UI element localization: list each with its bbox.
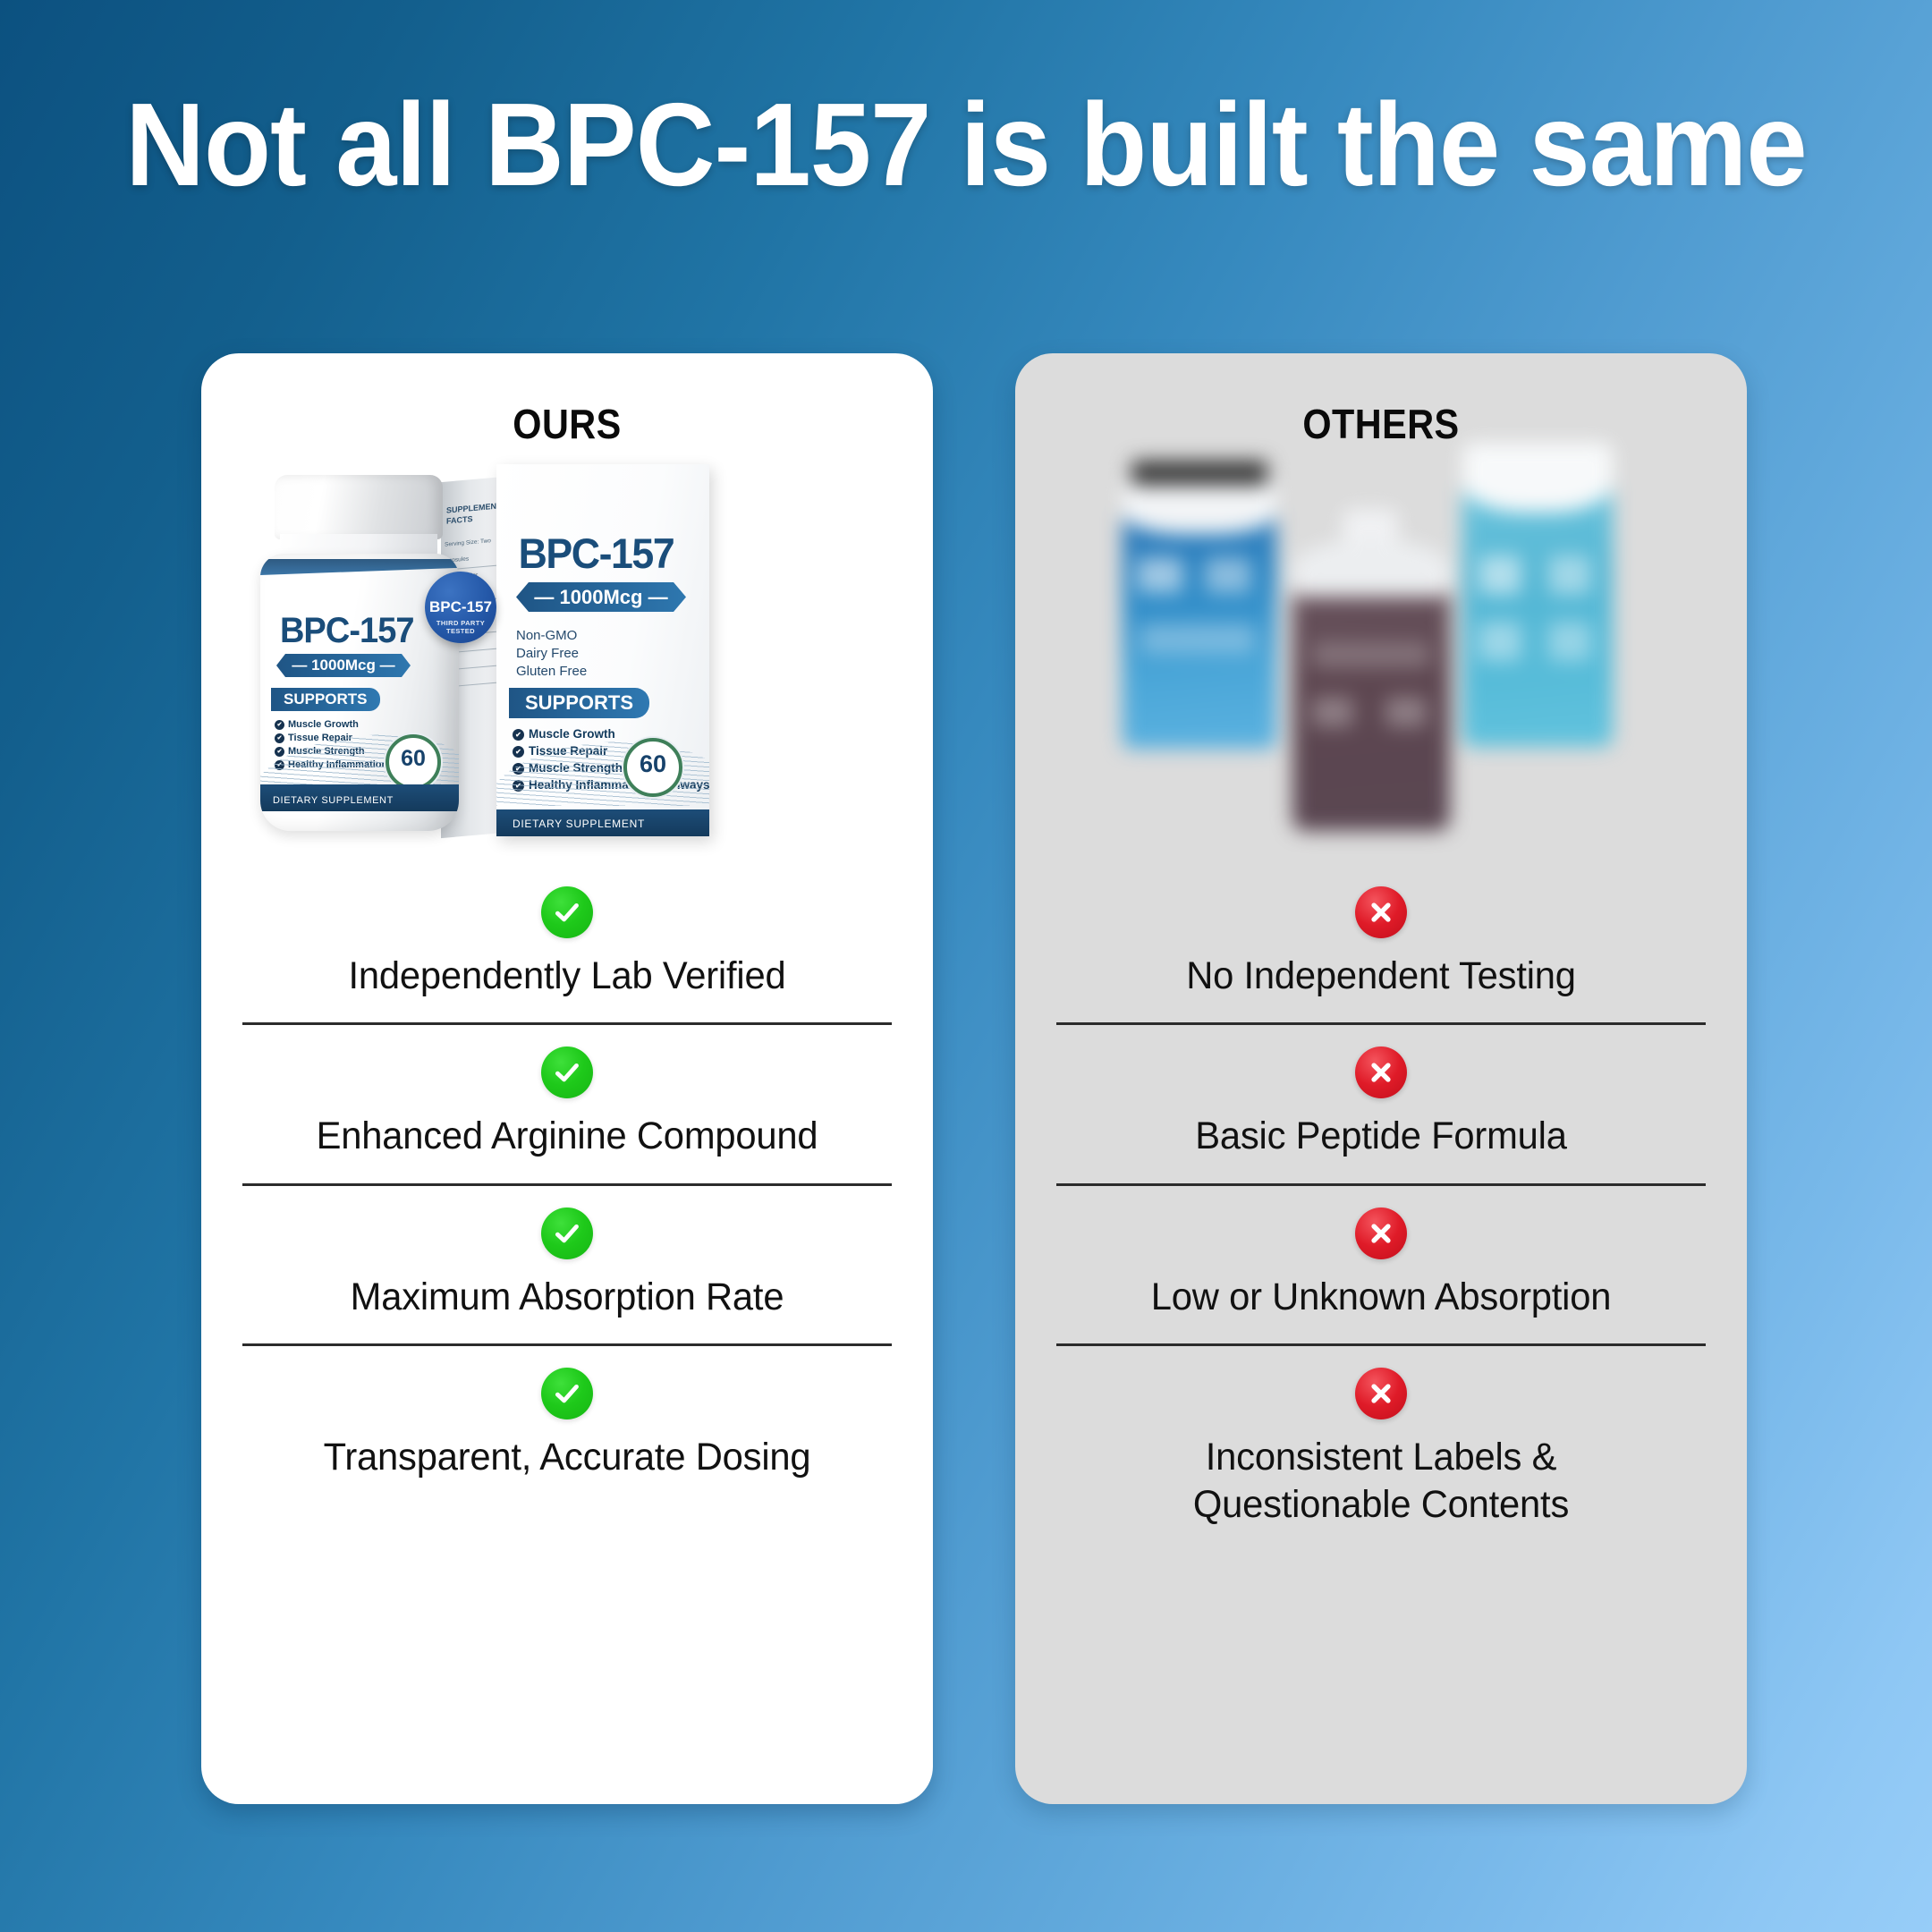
feature-row: Inconsistent Labels & Questionable Conte… bbox=[1056, 1368, 1706, 1528]
box-free-claims: Non-GMO Dairy Free Gluten Free bbox=[516, 627, 587, 681]
bottle-brand-name: BPC-157 bbox=[280, 611, 414, 651]
feature-divider bbox=[242, 1183, 892, 1186]
feature-label: Basic Peptide Formula bbox=[1066, 1113, 1696, 1159]
claim-dairy-free: Dairy Free bbox=[516, 645, 587, 663]
feature-label: Independently Lab Verified bbox=[252, 953, 882, 999]
feature-row: Enhanced Arginine Compound bbox=[242, 1046, 892, 1159]
feature-label: Maximum Absorption Rate bbox=[252, 1274, 882, 1320]
page-title: Not all BPC-157 is built the same bbox=[68, 86, 1865, 204]
feature-row: Low or Unknown Absorption bbox=[1056, 1207, 1706, 1320]
bottle-supports-badge: SUPPORTS bbox=[271, 688, 380, 711]
x-circle-icon bbox=[1355, 1046, 1407, 1098]
feature-divider bbox=[242, 1022, 892, 1025]
hangtag-sublabel: THIRD PARTY TESTED bbox=[425, 619, 496, 635]
check-circle-icon bbox=[541, 1368, 593, 1419]
others-card: OTHERS bbox=[1015, 353, 1747, 1804]
x-circle-icon bbox=[1355, 1368, 1407, 1419]
others-heading: OTHERS bbox=[1052, 400, 1710, 448]
claim-gluten-free: Gluten Free bbox=[516, 663, 587, 681]
bottle-benefit-item: Muscle Growth bbox=[275, 718, 436, 732]
check-circle-icon bbox=[541, 886, 593, 938]
box-supports-badge: SUPPORTS bbox=[509, 688, 649, 718]
box-brand-name: BPC-157 bbox=[519, 529, 674, 578]
comparison-infographic: Not all BPC-157 is built the same OURS S… bbox=[0, 0, 1932, 1932]
bottle-dosage-badge: — 1000Mcg — bbox=[276, 654, 411, 677]
blurred-bottles-group bbox=[1015, 464, 1747, 849]
blurred-teal-bottle bbox=[1462, 473, 1613, 747]
feature-divider bbox=[1056, 1183, 1706, 1186]
bottle-capsule-count-seal: 60 bbox=[386, 734, 441, 790]
third-party-tested-tag: BPC-157 THIRD PARTY TESTED bbox=[425, 572, 496, 643]
hangtag-label: BPC-157 bbox=[429, 598, 492, 616]
feature-divider bbox=[1056, 1022, 1706, 1025]
box-benefit-item: Muscle Growth bbox=[513, 725, 709, 742]
box-dosage-badge: — 1000Mcg — bbox=[516, 582, 686, 612]
others-feature-list: No Independent Testing Basic Peptide For… bbox=[1015, 849, 1747, 1528]
bottle-top-band bbox=[260, 559, 459, 575]
bottle-cap bbox=[275, 475, 443, 539]
bottle-footer-text: DIETARY SUPPLEMENT bbox=[273, 795, 394, 806]
box-capsule-count-seal: 60 bbox=[623, 738, 682, 797]
ours-product-image: SUPPLEMENT FACTS Serving Size: Two Capsu… bbox=[201, 464, 933, 849]
feature-label: Inconsistent Labels & Questionable Conte… bbox=[1104, 1434, 1659, 1528]
box-front-panel: BPC-157 — 1000Mcg — Non-GMO Dairy Free G… bbox=[496, 464, 709, 836]
ours-card: OURS SUPPLEMENT FACTS Serving Size: Two … bbox=[201, 353, 933, 1804]
product-box: SUPPLEMENT FACTS Serving Size: Two Capsu… bbox=[441, 464, 709, 836]
feature-label: Enhanced Arginine Compound bbox=[252, 1113, 882, 1159]
check-circle-icon bbox=[541, 1046, 593, 1098]
box-footer-text: DIETARY SUPPLEMENT bbox=[513, 818, 645, 830]
claim-non-gmo: Non-GMO bbox=[516, 627, 587, 645]
feature-divider bbox=[1056, 1343, 1706, 1346]
x-circle-icon bbox=[1355, 886, 1407, 938]
feature-divider bbox=[242, 1343, 892, 1346]
others-product-image bbox=[1015, 464, 1747, 849]
feature-row: Transparent, Accurate Dosing bbox=[242, 1368, 892, 1480]
blurred-purple-bottle bbox=[1292, 563, 1450, 831]
feature-row: Basic Peptide Formula bbox=[1056, 1046, 1706, 1159]
blurred-blue-bottle bbox=[1123, 480, 1276, 749]
feature-label: Transparent, Accurate Dosing bbox=[252, 1434, 882, 1480]
feature-row: Maximum Absorption Rate bbox=[242, 1207, 892, 1320]
ours-heading: OURS bbox=[238, 400, 896, 448]
check-circle-icon bbox=[541, 1207, 593, 1259]
feature-row: Independently Lab Verified bbox=[242, 849, 892, 999]
ours-feature-list: Independently Lab Verified Enhanced Argi… bbox=[201, 849, 933, 1481]
feature-label: Low or Unknown Absorption bbox=[1066, 1274, 1696, 1320]
feature-label: No Independent Testing bbox=[1066, 953, 1696, 999]
x-circle-icon bbox=[1355, 1207, 1407, 1259]
feature-row: No Independent Testing bbox=[1056, 849, 1706, 999]
product-bottle: BPC-157 — 1000Mcg — SUPPORTS Muscle Grow… bbox=[253, 475, 466, 833]
